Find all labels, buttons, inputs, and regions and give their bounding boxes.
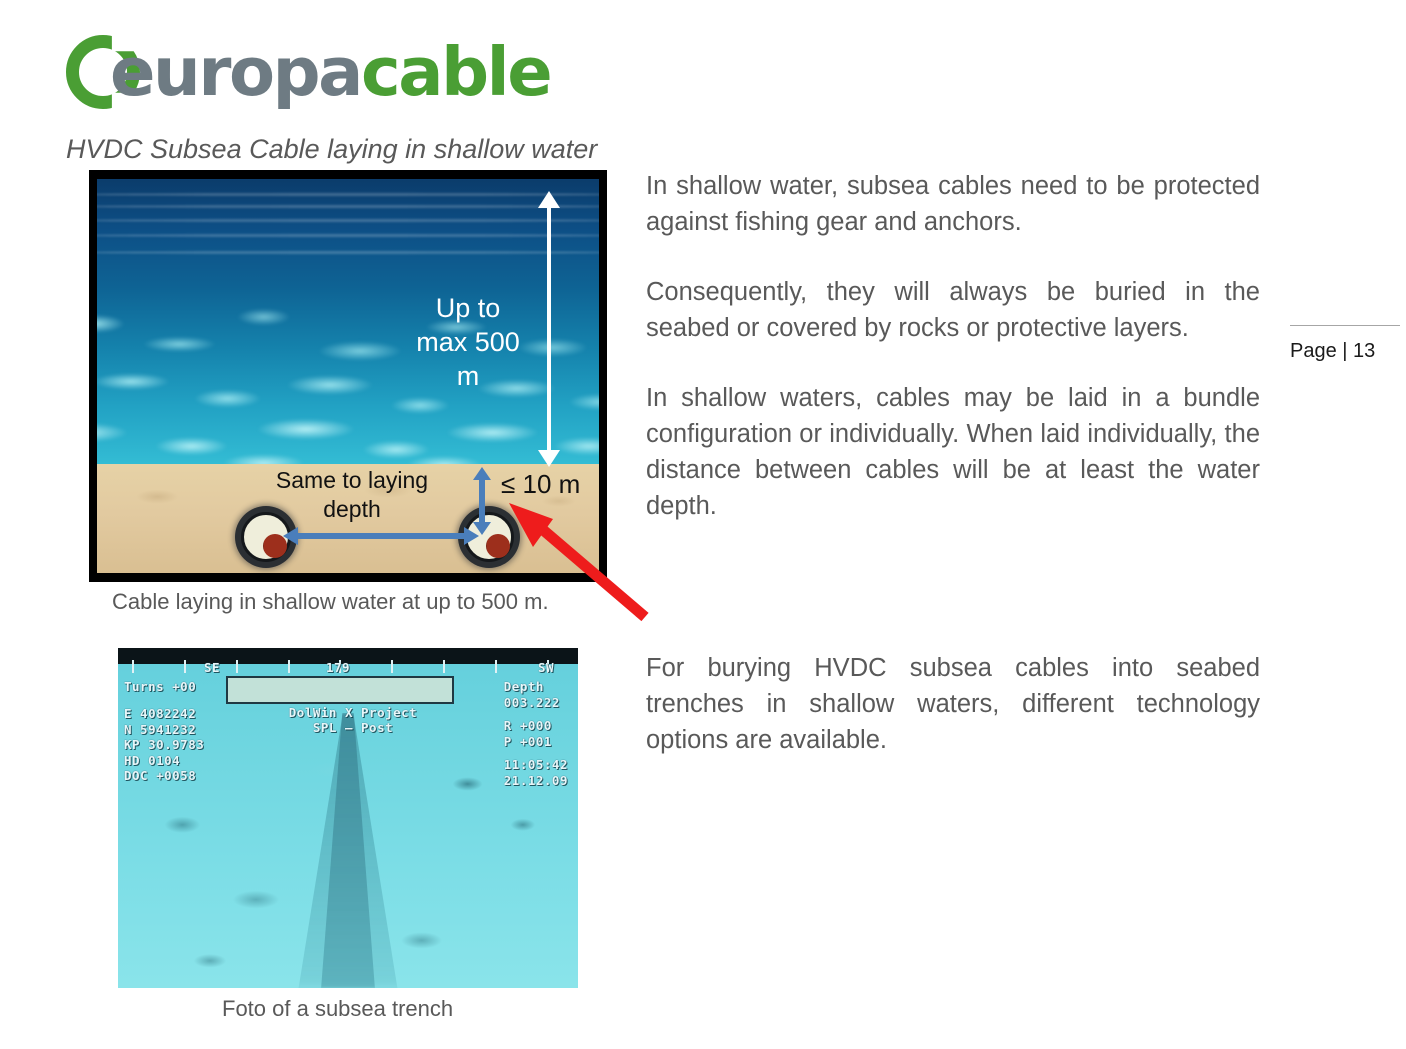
hud-depth-label: Depth [504, 679, 568, 695]
hud-navigation-readout: E 4082242 N 5941232 KP 30.9783 HD 0104 D… [124, 706, 204, 784]
paragraph-1: In shallow water, subsea cables need to … [646, 168, 1260, 240]
hud-depth-attitude-readout: Depth 003.222 R +000 P +001 11:05:42 21.… [504, 679, 568, 788]
hud-kp: KP 30.9783 [124, 737, 204, 752]
figure1-caption: Cable laying in shallow water at up to 5… [112, 589, 549, 615]
hud-turns-readout: Turns +00 [124, 679, 196, 694]
hud-easting: E 4082242 [124, 706, 196, 721]
hud-northing: N 5941232 [124, 722, 196, 737]
burial-depth-arrow-icon [473, 467, 491, 535]
compass-heading-right: SW [538, 660, 554, 675]
page-number-block: Page | 13 [1290, 325, 1400, 363]
hud-doc: DOC +0058 [124, 768, 196, 783]
hud-project-line1: DolWin X Project [289, 705, 417, 720]
hud-roll: R +000 [504, 718, 568, 734]
water-depth-label: Up to max 500 m [407, 291, 529, 393]
logo-wordmark: europacable [110, 37, 550, 107]
page-number-label: Page | 13 [1290, 340, 1400, 363]
hud-heading-distance: HD 0104 [124, 753, 180, 768]
hud-project-line2: SPL – Post [313, 720, 393, 735]
water-depth-arrow-icon [538, 191, 560, 467]
hud-status-bar [226, 676, 454, 704]
logo-word-europa: europa [110, 33, 361, 111]
burial-depth-label: ≤ 10 m [501, 469, 580, 500]
cable-conductor-core [486, 534, 510, 558]
hud-time: 11:05:42 [504, 757, 568, 773]
hud-date: 21.12.09 [504, 773, 568, 789]
paragraph-4: For burying HVDC subsea cables into seab… [646, 650, 1260, 758]
logo-word-cable: cable [361, 33, 550, 111]
paragraph-2: Consequently, they will always be buried… [646, 274, 1260, 346]
page-number-divider [1290, 325, 1400, 326]
hud-depth-value: 003.222 [504, 695, 568, 711]
europacable-logo: europacable [66, 33, 516, 113]
figure-subsea-trench-photo: SE 179 SW Turns +00 DolWin X Project SPL… [118, 648, 578, 988]
hud-project-label: DolWin X Project SPL – Post [283, 705, 423, 735]
figure1-scene: Up to max 500 m Same to laying depth ≤ 1… [97, 179, 599, 573]
hud-pitch: P +001 [504, 734, 568, 750]
rov-video-overlay: SE 179 SW Turns +00 DolWin X Project SPL… [118, 648, 578, 988]
body-text-column: In shallow water, subsea cables need to … [646, 168, 1260, 524]
section-subtitle: HVDC Subsea Cable laying in shallow wate… [66, 134, 597, 165]
figure2-caption: Foto of a subsea trench [222, 996, 453, 1022]
cable-spacing-arrow-icon [283, 527, 479, 545]
compass-heading-center: 179 [326, 660, 350, 675]
cable-spacing-label: Same to laying depth [247, 466, 457, 524]
figure-shallow-water-diagram: Up to max 500 m Same to laying depth ≤ 1… [89, 170, 607, 582]
compass-heading-left: SE [204, 660, 220, 675]
paragraph-3: In shallow waters, cables may be laid in… [646, 380, 1260, 524]
